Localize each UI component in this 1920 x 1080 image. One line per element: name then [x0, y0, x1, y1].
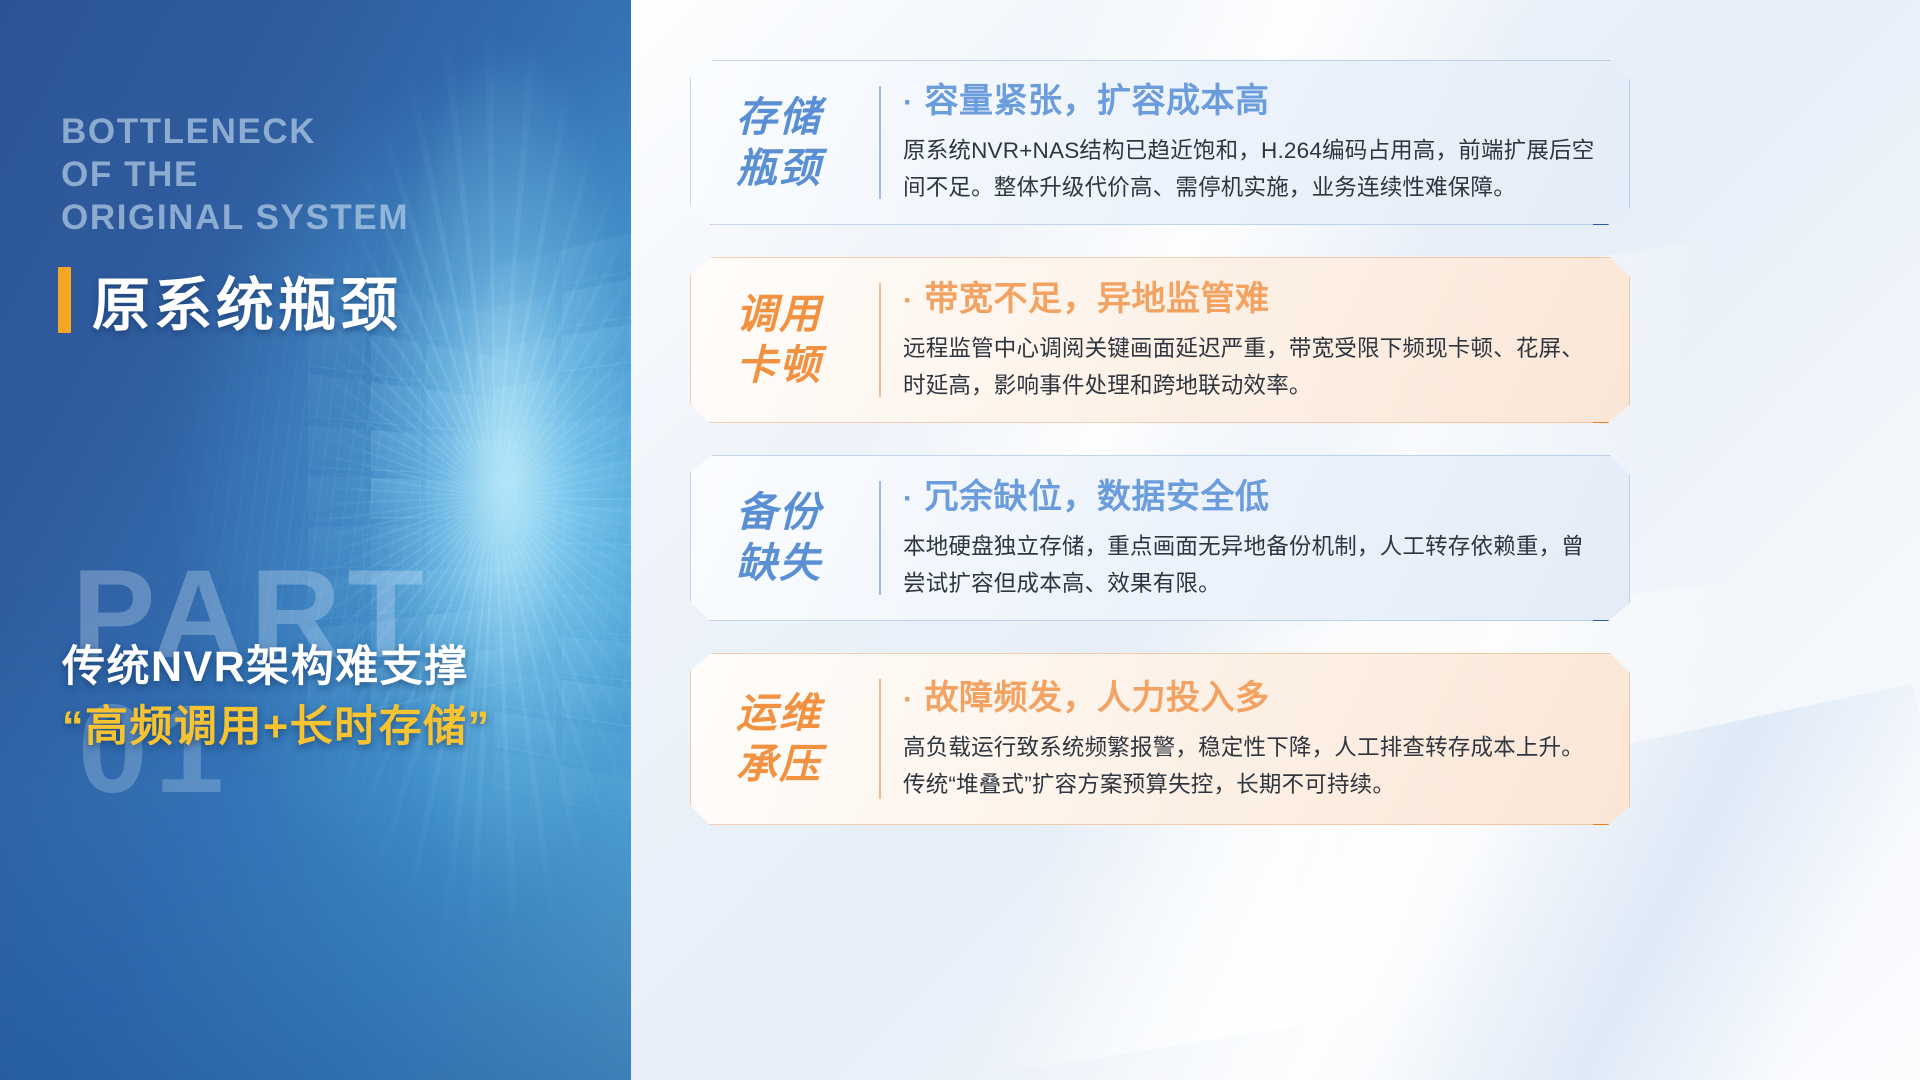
content-panel: 存储瓶颈·容量紧张，扩容成本高原系统NVR+NAS结构已趋近饱和，H.264编码…: [631, 0, 1920, 1080]
card-title: 带宽不足，异地监管难: [925, 277, 1270, 321]
card-tag: 备份缺失: [736, 487, 873, 589]
card-tag-line-2: 缺失: [736, 538, 873, 589]
card-description: 原系统NVR+NAS结构已趋近饱和，H.264编码占用高，前端扩展后空间不足。整…: [903, 132, 1600, 206]
card-divider: [879, 679, 881, 799]
card-tag: 调用卡顿: [736, 289, 873, 391]
card-tag-line-1: 备份: [736, 487, 873, 538]
card-body: 备份缺失·冗余缺位，数据安全低本地硬盘独立存储，重点画面无异地备份机制，人工转存…: [690, 455, 1630, 621]
card-content: ·冗余缺位，数据安全低本地硬盘独立存储，重点画面无异地备份机制，人工转存依赖重，…: [903, 475, 1600, 602]
card-content: ·带宽不足，异地监管难远程监管中心调阅关键画面延迟严重，带宽受限下频现卡顿、花屏…: [903, 277, 1600, 404]
english-eyebrow-text: BOTTLENECK OF THE ORIGINAL SYSTEM: [61, 110, 591, 239]
corner-accent-icon: [1593, 224, 1639, 233]
card-divider: [879, 283, 881, 397]
card-description: 高负载运行致系统频繁报警，稳定性下降，人工排查转存成本上升。传统“堆叠式”扩容方…: [903, 729, 1600, 803]
card-title: 冗余缺位，数据安全低: [925, 475, 1270, 519]
card-content: ·容量紧张，扩容成本高原系统NVR+NAS结构已趋近饱和，H.264编码占用高，…: [903, 79, 1600, 206]
page-title: 原系统瓶颈: [92, 258, 402, 342]
bullet-icon: ·: [903, 88, 914, 118]
card-title: 故障频发，人力投入多: [925, 676, 1270, 720]
card-surface: 运维承压·故障频发，人力投入多高负载运行致系统频繁报警，稳定性下降，人工排查转存…: [690, 653, 1630, 825]
bottleneck-card[interactable]: 调用卡顿·带宽不足，异地监管难远程监管中心调阅关键画面延迟严重，带宽受限下频现卡…: [690, 257, 1630, 423]
bottleneck-card[interactable]: 运维承压·故障频发，人力投入多高负载运行致系统频繁报警，稳定性下降，人工排查转存…: [690, 653, 1630, 825]
bottleneck-card-list: 存储瓶颈·容量紧张，扩容成本高原系统NVR+NAS结构已趋近饱和，H.264编码…: [631, 0, 1920, 1080]
bullet-icon: ·: [903, 484, 914, 514]
corner-accent-icon: [1593, 620, 1639, 629]
accent-bar-icon: [58, 267, 71, 333]
subtitle-line-1: 传统NVR架构难支撑: [62, 632, 602, 694]
card-body: 调用卡顿·带宽不足，异地监管难远程监管中心调阅关键画面延迟严重，带宽受限下频现卡…: [690, 257, 1630, 423]
bottleneck-card[interactable]: 备份缺失·冗余缺位，数据安全低本地硬盘独立存储，重点画面无异地备份机制，人工转存…: [690, 455, 1630, 621]
card-body: 存储瓶颈·容量紧张，扩容成本高原系统NVR+NAS结构已趋近饱和，H.264编码…: [690, 60, 1630, 225]
card-tag-line-2: 承压: [736, 739, 873, 790]
card-tag-line-2: 卡顿: [736, 340, 873, 391]
card-title-row: ·带宽不足，异地监管难: [903, 277, 1600, 321]
card-surface: 备份缺失·冗余缺位，数据安全低本地硬盘独立存储，重点画面无异地备份机制，人工转存…: [690, 455, 1630, 621]
card-content: ·故障频发，人力投入多高负载运行致系统频繁报警，稳定性下降，人工排查转存成本上升…: [903, 676, 1600, 803]
card-tag: 运维承压: [736, 688, 873, 790]
left-title-panel: PART 01 BOTTLENECK OF THE ORIGINAL SYSTE…: [0, 0, 631, 1080]
card-tag: 存储瓶颈: [736, 92, 873, 194]
bullet-icon: ·: [903, 286, 914, 316]
card-divider: [879, 86, 881, 199]
subtitle-line-2: “高频调用+长时存储”: [62, 692, 622, 754]
card-title-row: ·冗余缺位，数据安全低: [903, 475, 1600, 519]
corner-accent-icon: [1593, 824, 1639, 833]
card-surface: 调用卡顿·带宽不足，异地监管难远程监管中心调阅关键画面延迟严重，带宽受限下频现卡…: [690, 257, 1630, 423]
corner-accent-icon: [1593, 422, 1639, 431]
card-surface: 存储瓶颈·容量紧张，扩容成本高原系统NVR+NAS结构已趋近饱和，H.264编码…: [690, 60, 1630, 225]
bullet-icon: ·: [903, 685, 914, 715]
card-title-row: ·故障频发，人力投入多: [903, 676, 1600, 720]
card-divider: [879, 481, 881, 595]
card-title: 容量紧张，扩容成本高: [925, 79, 1270, 123]
card-title-row: ·容量紧张，扩容成本高: [903, 79, 1600, 123]
card-body: 运维承压·故障频发，人力投入多高负载运行致系统频繁报警，稳定性下降，人工排查转存…: [690, 653, 1630, 825]
card-description: 本地硬盘独立存储，重点画面无异地备份机制，人工转存依赖重，曾尝试扩容但成本高、效…: [903, 528, 1600, 602]
card-description: 远程监管中心调阅关键画面延迟严重，带宽受限下频现卡顿、花屏、时延高，影响事件处理…: [903, 330, 1600, 404]
card-tag-line-1: 运维: [736, 688, 873, 739]
card-tag-line-1: 存储: [736, 92, 873, 143]
headline-group: 原系统瓶颈: [58, 258, 402, 342]
card-tag-line-1: 调用: [736, 289, 873, 340]
card-tag-line-2: 瓶颈: [736, 143, 873, 194]
bottleneck-card[interactable]: 存储瓶颈·容量紧张，扩容成本高原系统NVR+NAS结构已趋近饱和，H.264编码…: [690, 60, 1630, 225]
